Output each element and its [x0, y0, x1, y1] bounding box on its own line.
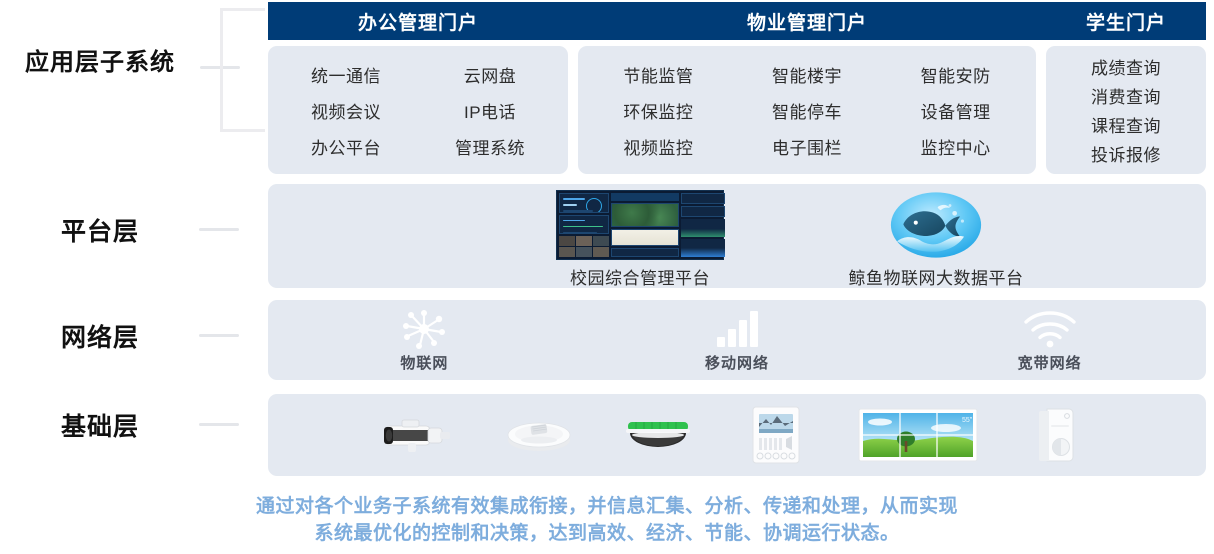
app-item[interactable]: 云网盘: [464, 62, 517, 87]
portal-panel-student: 成绩查询 消费查询 课程查询 投诉报修: [1046, 46, 1206, 174]
app-item[interactable]: 智能安防: [921, 62, 991, 87]
device-dome-camera[interactable]: [621, 403, 696, 467]
platform-layer-panel: 校园综合管理平台: [268, 184, 1206, 288]
platform-caption-campus: 校园综合管理平台: [570, 264, 710, 289]
app-item[interactable]: 统一通信: [311, 62, 381, 87]
app-item[interactable]: 视频监控: [623, 134, 693, 159]
device-bullet-camera[interactable]: [378, 403, 458, 467]
device-access-terminal[interactable]: [1022, 403, 1097, 467]
layer-label-platform: 平台层: [0, 212, 200, 248]
connector-dash-platform: [199, 228, 239, 231]
dome-camera-icon: [622, 414, 694, 456]
app-item[interactable]: 节能监管: [623, 62, 693, 87]
portal-title-property: 物业管理门户: [568, 8, 1046, 35]
network-label-iot: 物联网: [400, 352, 448, 373]
app-item[interactable]: 管理系统: [455, 134, 525, 159]
device-intercom-panel[interactable]: [739, 403, 814, 467]
connector-dash-network: [199, 334, 239, 337]
platform-caption-whale: 鲸鱼物联网大数据平台: [849, 264, 1024, 289]
wifi-icon: [1021, 309, 1079, 349]
platform-block-whale[interactable]: 鲸鱼物联网大数据平台: [806, 190, 1066, 289]
app-item[interactable]: 电子围栏: [772, 134, 842, 159]
footer-summary-text: 通过对各个业务子系统有效集成衔接，并信息汇集、分析、传递和处理，从而实现 系统最…: [0, 494, 1214, 548]
device-smoke-detector[interactable]: [502, 403, 577, 467]
portal-panel-property: 节能监管 智能楼宇 智能安防 环保监控 智能停车 设备管理 视频监控 电子围栏 …: [578, 46, 1036, 174]
application-layer-bracket: [220, 8, 265, 132]
portal-title-office: 办公管理门户: [268, 8, 568, 35]
intercom-panel-icon: [750, 405, 802, 465]
app-item[interactable]: 消费查询: [1091, 83, 1161, 108]
bullet-camera-icon: [378, 414, 458, 456]
app-item[interactable]: 监控中心: [921, 134, 991, 159]
app-item[interactable]: 课程查询: [1091, 112, 1161, 137]
platform-block-campus[interactable]: 校园综合管理平台: [530, 190, 750, 289]
app-item[interactable]: IP电话: [464, 98, 516, 123]
app-item[interactable]: 环保监控: [623, 98, 693, 123]
access-terminal-icon: [1037, 405, 1081, 465]
footer-line-1: 通过对各个业务子系统有效集成衔接，并信息汇集、分析、传递和处理，从而实现: [0, 494, 1214, 521]
network-item-mobile[interactable]: 移动网络: [581, 308, 894, 373]
network-label-broadband: 宽带网络: [1018, 352, 1082, 373]
network-layer-panel: 物联网 移动网络: [268, 300, 1206, 380]
app-item[interactable]: 视频会议: [311, 98, 381, 123]
layer-label-network: 网络层: [0, 318, 200, 354]
app-item[interactable]: 投诉报修: [1091, 141, 1161, 166]
portal-header-bar: 办公管理门户 物业管理门户 学生门户: [268, 2, 1206, 40]
whale-logo-icon: [889, 190, 983, 260]
infrastructure-layer-panel: 55": [268, 394, 1206, 476]
signal-bars-icon: [715, 309, 759, 349]
app-item[interactable]: 设备管理: [921, 98, 991, 123]
connector-dash-infrastructure: [199, 423, 239, 426]
portal-title-student: 学生门户: [1046, 8, 1206, 35]
smoke-detector-icon: [503, 414, 575, 456]
svg-text:55": 55": [962, 417, 973, 424]
video-wall-icon: 55": [858, 408, 978, 462]
network-item-broadband[interactable]: 宽带网络: [893, 308, 1206, 373]
layer-label-infrastructure: 基础层: [0, 407, 200, 443]
app-item[interactable]: 智能停车: [772, 98, 842, 123]
device-video-wall[interactable]: 55": [858, 403, 978, 467]
network-item-iot[interactable]: 物联网: [268, 308, 581, 373]
portal-panel-office: 统一通信 云网盘 视频会议 IP电话 办公平台 管理系统: [268, 46, 568, 174]
app-item[interactable]: 智能楼宇: [772, 62, 842, 87]
app-item[interactable]: 成绩查询: [1091, 54, 1161, 79]
footer-line-2: 系统最优化的控制和决策，达到高效、经济、节能、协调运行状态。: [0, 521, 1214, 548]
app-item[interactable]: 办公平台: [311, 134, 381, 159]
layer-label-application: 应用层子系统: [0, 42, 200, 77]
network-label-mobile: 移动网络: [705, 352, 769, 373]
iot-hub-icon: [400, 308, 448, 350]
dashboard-thumbnail-icon: [556, 190, 724, 260]
